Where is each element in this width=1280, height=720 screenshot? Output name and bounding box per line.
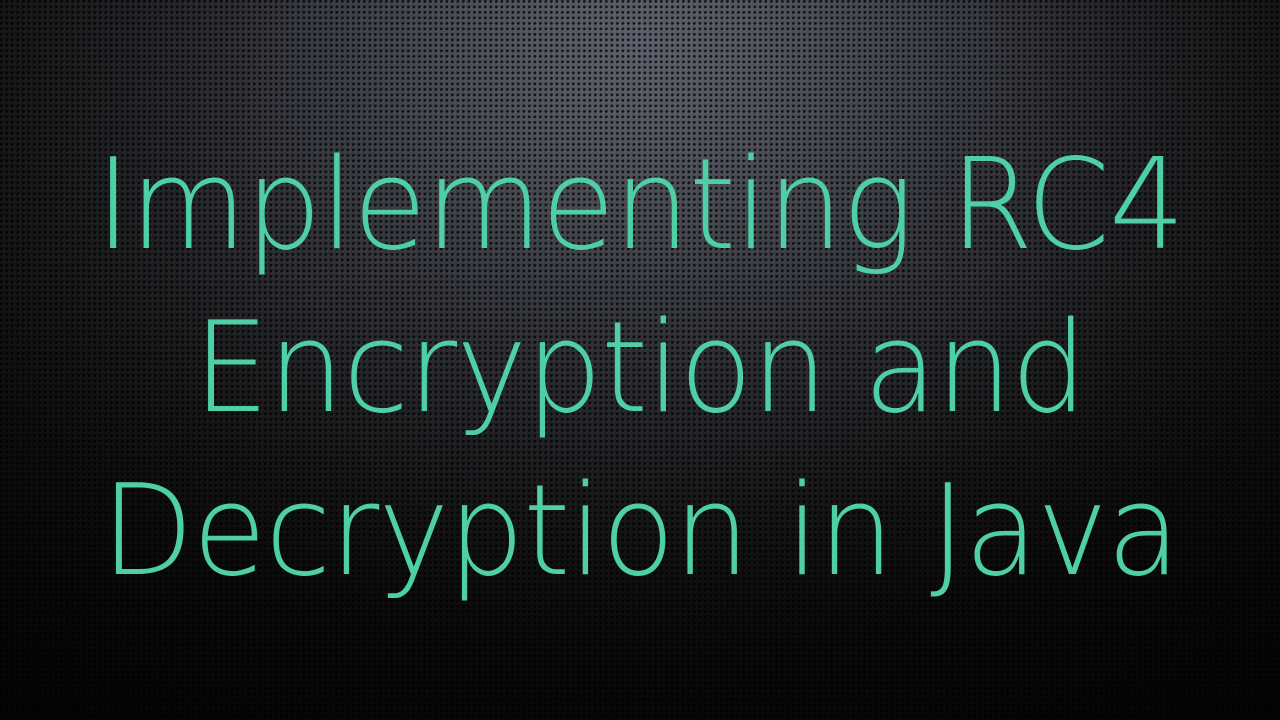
title-line-3: Decryption in Java bbox=[101, 449, 1179, 612]
title-line-1: Implementing RC4 bbox=[96, 123, 1185, 286]
title-slide: Implementing RC4 Encryption and Decrypti… bbox=[0, 0, 1280, 720]
title-line-2: Encryption and bbox=[194, 286, 1087, 449]
title-text-block: Implementing RC4 Encryption and Decrypti… bbox=[0, 0, 1280, 720]
